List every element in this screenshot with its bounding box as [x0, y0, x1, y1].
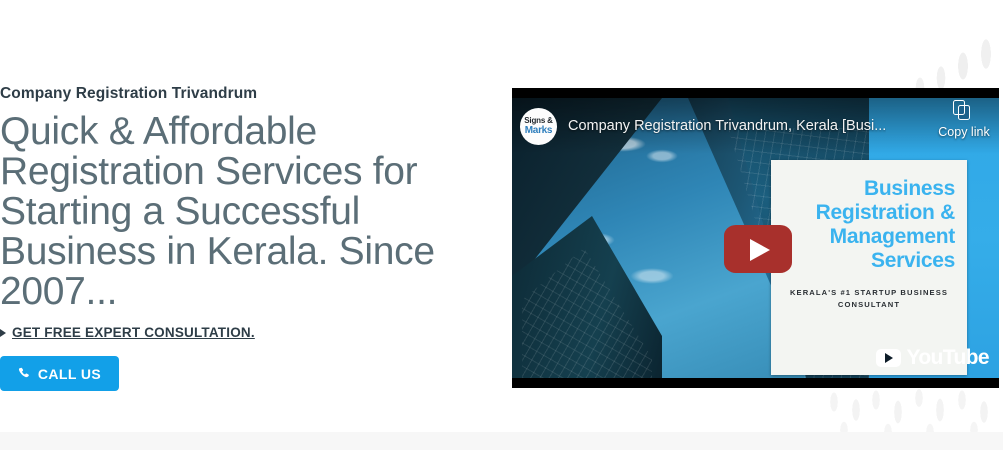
- youtube-logo-icon[interactable]: YouTube: [876, 347, 989, 368]
- play-triangle-icon: [750, 239, 770, 261]
- page-bottom-band: [0, 432, 1003, 450]
- copy-icon: [953, 100, 975, 124]
- youtube-wordmark: YouTube: [906, 347, 989, 368]
- avatar-line-2: Marks: [525, 126, 552, 136]
- play-button-icon[interactable]: [724, 225, 792, 273]
- avatar-line-1: Signs &: [524, 117, 552, 125]
- video-letterbox-top: [512, 88, 999, 98]
- triangle-right-icon: [0, 329, 6, 337]
- hero-text-column: Company Registration Trivandrum Quick & …: [0, 84, 500, 391]
- video-title[interactable]: Company Registration Trivandrum, Kerala …: [568, 118, 886, 134]
- thumbnail-card-subtitle: KERALA'S #1 STARTUP BUSINESS CONSULTANT: [783, 287, 955, 311]
- phone-icon: [18, 367, 31, 380]
- youtube-badge-icon: [876, 349, 901, 367]
- free-consultation-label: GET FREE EXPERT CONSULTATION.: [12, 325, 255, 340]
- thumbnail-card: Business Registration & Management Servi…: [771, 160, 967, 375]
- hero-section: Company Registration Trivandrum Quick & …: [0, 0, 1003, 450]
- call-us-button[interactable]: CALL US: [0, 356, 119, 391]
- page-title: Quick & Affordable Registration Services…: [0, 112, 500, 312]
- copy-link-label: Copy link: [938, 125, 989, 139]
- video-letterbox-bottom: [512, 378, 999, 388]
- thumbnail-card-title: Business Registration & Management Servi…: [783, 177, 955, 273]
- avatar[interactable]: Signs & Marks: [520, 108, 557, 145]
- page-eyebrow: Company Registration Trivandrum: [0, 84, 500, 104]
- youtube-embed[interactable]: Business Registration & Management Servi…: [512, 88, 999, 388]
- free-consultation-link[interactable]: GET FREE EXPERT CONSULTATION.: [0, 325, 500, 340]
- call-us-label: CALL US: [38, 366, 101, 382]
- copy-link-button[interactable]: Copy link: [933, 100, 995, 139]
- video-title-bar: Signs & Marks Company Registration Triva…: [512, 98, 999, 154]
